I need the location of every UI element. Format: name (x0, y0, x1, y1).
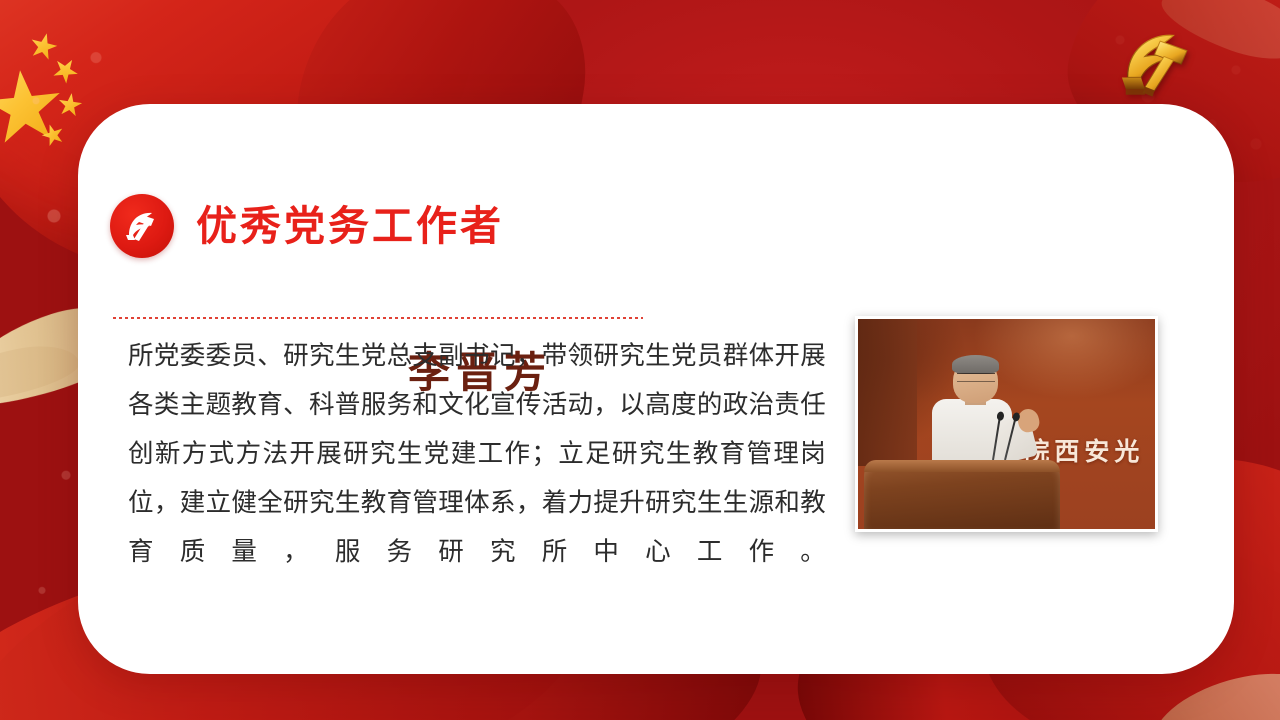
gold-ribbon-left-secondary (0, 337, 83, 411)
party-emblem-gold-icon (1106, 22, 1222, 110)
photo-podium (864, 460, 1060, 529)
hammer-sickle-icon (110, 194, 174, 258)
flag-star-small-1 (27, 30, 60, 63)
photo-wall-panel (858, 319, 917, 466)
flag-star-small-2 (48, 53, 82, 87)
photo-inner: 院西安光 (858, 319, 1155, 529)
page-title: 优秀党务工作者 (196, 206, 504, 247)
photo-speaker-hair (952, 355, 1000, 374)
photo-podium-top (864, 460, 1060, 472)
card-header: 优秀党务工作者 (110, 194, 504, 258)
flag-star-small-3 (56, 91, 83, 118)
dotted-divider (113, 317, 643, 319)
slide-root: 优秀党务工作者 李晋芳 所党委委员、研究生党总支副书记，带领研究生党员群体开展各… (0, 0, 1280, 720)
photo-speaker-glasses (957, 373, 994, 382)
portrait-photo: 院西安光 (855, 316, 1158, 532)
content-card: 优秀党务工作者 李晋芳 所党委委员、研究生党总支副书记，带领研究生党员群体开展各… (78, 104, 1234, 674)
biography-text: 所党委委员、研究生党总支副书记，带领研究生党员群体开展各类主题教育、科普服务和文… (128, 332, 826, 577)
